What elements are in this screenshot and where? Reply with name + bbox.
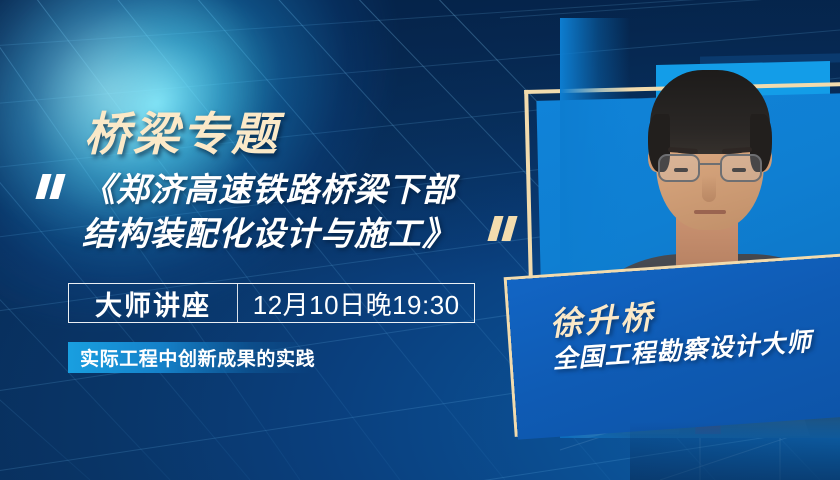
open-quote-icon [39, 174, 62, 199]
subtitle-bar: 实际工程中创新成果的实践 [68, 342, 312, 373]
portrait-nose [702, 176, 716, 202]
portrait-glasses-lens-right [720, 154, 762, 182]
lecture-poster: 徐升桥 全国工程勘察设计大师 桥梁专题 《郑济高速铁路桥梁下部 结构装配化设计与… [0, 0, 840, 480]
lecture-datetime-label: 12月10日晚19:30 [238, 284, 474, 322]
portrait-glasses-lens-left [658, 154, 700, 182]
work-title-line-2: 结构装配化设计与施工》 [82, 212, 552, 256]
work-title-line-1: 《郑济高速铁路桥梁下部 [82, 168, 552, 212]
lecture-category-label: 大师讲座 [69, 284, 237, 322]
speaker-nameplate-content: 徐升桥 全国工程勘察设计大师 [507, 256, 840, 439]
close-quote-icon [491, 216, 514, 241]
subtitle-text: 实际工程中创新成果的实践 [68, 344, 315, 371]
work-title: 《郑济高速铁路桥梁下部 结构装配化设计与施工》 [82, 168, 552, 256]
bottom-right-shade [630, 422, 840, 480]
portrait-mouth [694, 210, 726, 214]
lecture-info-box: 大师讲座 12月10日晚19:30 [68, 283, 475, 323]
quoted-work-block: 《郑济高速铁路桥梁下部 结构装配化设计与施工》 [36, 168, 556, 280]
page-title: 桥梁专题 [84, 98, 280, 164]
portrait-glasses-bridge [700, 163, 720, 165]
